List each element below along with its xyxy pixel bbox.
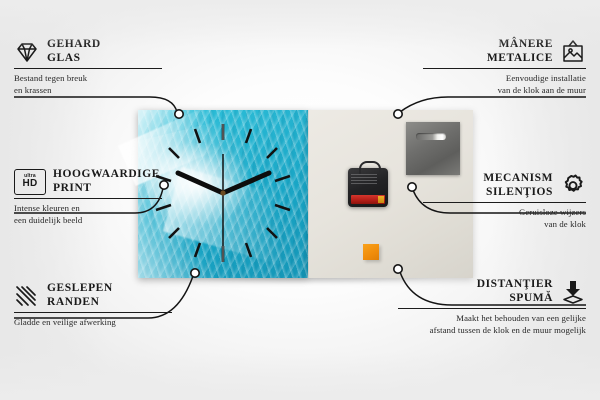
feature-desc-line1: Eenvoudige installatie — [411, 73, 586, 84]
feature-desc-line2: van de klok — [411, 219, 586, 230]
feature-title-line1: MECANISM — [483, 172, 553, 186]
orange-foam-spacer — [363, 244, 379, 260]
feature-title-line2: GLAS — [47, 52, 101, 66]
feature-geslepen-randen: GESLEPEN RANDEN Gladde en veilige afwerk… — [14, 282, 184, 329]
feature-desc-line1: Geruisloze wijzers — [411, 207, 586, 218]
feature-mecanism-silentios: MECANISM SILENŢIOS Geruisloze wijzers va… — [411, 172, 586, 230]
feature-desc-line1: Maakt het behouden van een gelijke — [386, 313, 586, 324]
feature-title-line1: MÂNERE — [487, 38, 553, 52]
feature-desc-line2: afstand tussen de klok en de muur mogeli… — [386, 325, 586, 336]
gear-icon — [560, 173, 586, 199]
feature-hoogwaardige-print: ultra HD HOOGWAARDIGE PRINT Intense kleu… — [14, 168, 174, 226]
feature-title-line2: SILENŢIOS — [483, 186, 553, 200]
feature-desc-line2: van de klok aan de muur — [411, 85, 586, 96]
feature-desc-line1: Gladde en veilige afwerking — [14, 317, 184, 328]
diamond-icon — [14, 39, 40, 65]
feature-divider — [14, 198, 162, 199]
feature-title-line1: DISTANŢIER — [477, 278, 553, 292]
clock-center-cap — [220, 190, 225, 195]
feature-divider — [14, 312, 172, 313]
movement-label — [351, 174, 377, 185]
feature-title-line2: SPUMĂ — [477, 292, 553, 306]
quartz-movement-box — [348, 168, 388, 207]
feature-header: DISTANŢIER SPUMĂ — [386, 278, 586, 305]
feature-title-line2: RANDEN — [47, 296, 113, 310]
hanger-slot — [416, 133, 446, 140]
feature-header: MÂNERE METALICE — [411, 38, 586, 65]
feature-title-line2: PRINT — [53, 182, 160, 196]
feature-desc-line2: een duidelijk beeld — [14, 215, 174, 226]
feature-title-line1: HOOGWAARDIGE — [53, 168, 160, 182]
feature-divider — [423, 202, 586, 203]
clock-hour-hand — [223, 173, 269, 193]
feature-header: MECANISM SILENŢIOS — [411, 172, 586, 199]
clock-minute-hand — [178, 173, 223, 193]
feature-divider — [398, 308, 586, 309]
bevel-lines-icon — [14, 283, 40, 309]
feature-header: GEHARD GLAS — [14, 38, 174, 65]
feature-title-line1: GEHARD — [47, 38, 101, 52]
feature-distantier-spuma: DISTANŢIER SPUMĂ Maakt het behouden van … — [386, 278, 586, 336]
hanging-loop — [359, 161, 381, 174]
spacer-down-arrow-icon — [560, 279, 586, 305]
feature-title-line1: GESLEPEN — [47, 282, 113, 296]
feature-header: ultra HD HOOGWAARDIGE PRINT — [14, 168, 174, 195]
ultra-hd-icon: ultra HD — [14, 169, 46, 195]
feature-desc-line1: Intense kleuren en — [14, 203, 174, 214]
feature-header: GESLEPEN RANDEN — [14, 282, 184, 309]
feature-desc-line2: en krassen — [14, 85, 174, 96]
feature-title-line2: METALICE — [487, 52, 553, 66]
feature-divider — [423, 68, 586, 69]
infographic-canvas: GEHARD GLAS Bestand tegen breuk en krass… — [0, 0, 600, 400]
feature-gehard-glas: GEHARD GLAS Bestand tegen breuk en krass… — [14, 38, 174, 96]
metal-hanger-plate — [406, 122, 460, 175]
ultra-hd-icon-bottom: HD — [22, 179, 37, 189]
picture-frame-hook-icon — [560, 39, 586, 65]
feature-desc-line1: Bestand tegen breuk — [14, 73, 174, 84]
battery — [351, 195, 385, 204]
feature-manere-metalice: MÂNERE METALICE Eenvoudige installatie v… — [411, 38, 586, 96]
feature-divider — [14, 68, 162, 69]
